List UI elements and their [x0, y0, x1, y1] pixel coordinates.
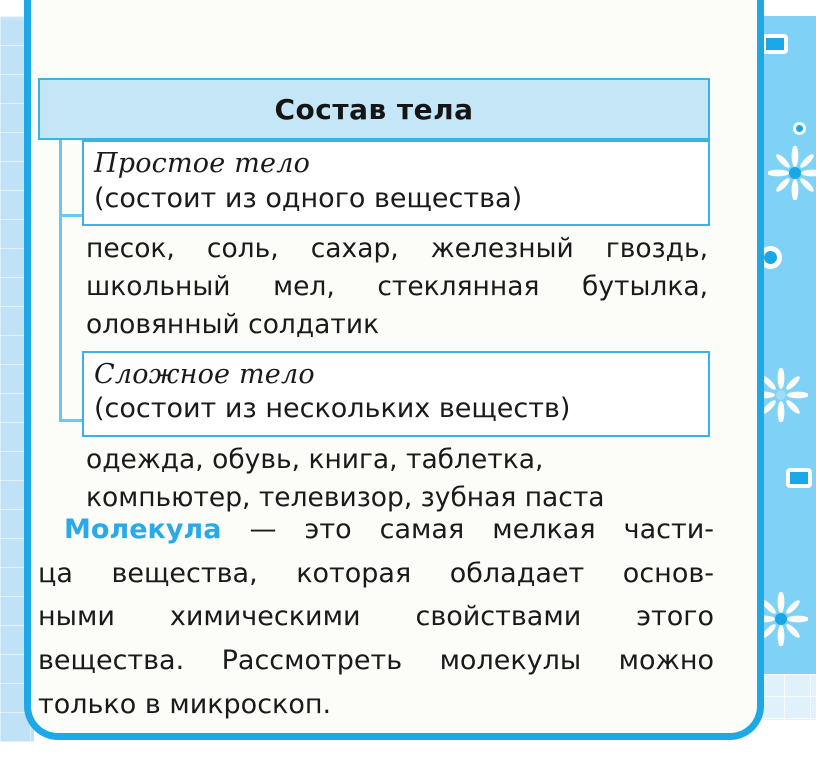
branch-kind-label: Сложное тело — [94, 358, 698, 393]
example-line: оловянный солдатик — [86, 306, 708, 344]
bracket-branch-line-2 — [59, 419, 84, 422]
dot-small-motif-icon — [793, 122, 806, 135]
bracket-branch-line-1 — [59, 214, 84, 217]
right-decorative-band — [758, 16, 816, 720]
flower-motif-icon — [768, 146, 816, 200]
paragraph-line-4: вещества. Рассмотреть молекулы можно — [38, 639, 714, 683]
diagram-header-box: Состав тела — [38, 78, 710, 140]
diagram-branches: Простое тело (состоит из одного вещества… — [82, 140, 710, 523]
square-motif-icon — [762, 34, 788, 54]
bracket-vertical-line — [59, 140, 62, 422]
branch-description: (состоит из одного вещества) — [94, 182, 698, 217]
right-band-grid-footer — [758, 674, 816, 720]
square-motif-icon — [786, 468, 812, 488]
branch-description: (состоит из нескольких веществ) — [94, 392, 698, 427]
branch-box-complex: Сложное тело (состоит из нескольких веще… — [82, 351, 710, 437]
page-root: Состав тела Простое тело (состоит из одн… — [0, 0, 816, 762]
paragraph-line-3: ными химическими свойствами этого — [38, 595, 714, 639]
paragraph-line-1-rest: — это самая мелкая части- — [221, 514, 714, 545]
example-line: школьный мел, стеклянная бутылка, — [86, 268, 708, 306]
diagram-title: Состав тела — [274, 93, 473, 126]
example-line: песок, соль, сахар, железный гвоздь, — [86, 230, 708, 268]
branch-kind-label: Простое тело — [94, 147, 698, 182]
molecule-definition-paragraph: Молекула — это самая мелкая части- ца ве… — [38, 508, 714, 727]
bracket-connector — [38, 140, 84, 422]
term-molecule: Молекула — [64, 514, 221, 545]
composition-diagram: Состав тела Простое тело (состоит из одн… — [38, 78, 710, 523]
paragraph-line-1: Молекула — это самая мелкая части- — [38, 508, 714, 552]
branch-examples-simple: песок, соль, сахар, железный гвоздь, шко… — [82, 226, 710, 350]
example-line: одежда, обувь, книга, таблетка, — [86, 441, 708, 479]
paragraph-line-2: ца вещества, которая обладает основ- — [38, 552, 714, 596]
paragraph-line-5: только в микроскоп. — [38, 683, 714, 727]
branch-box-simple: Простое тело (состоит из одного вещества… — [82, 140, 710, 226]
